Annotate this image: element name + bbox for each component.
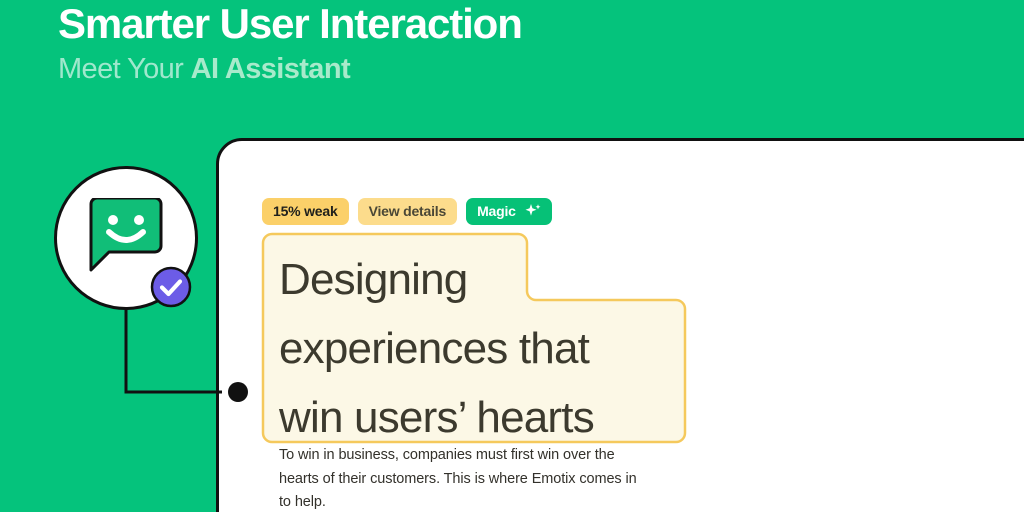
page-title: Smarter User Interaction: [58, 0, 818, 48]
avatar[interactable]: [54, 166, 204, 316]
subtitle-strong: AI Assistant: [191, 53, 350, 85]
badge-label: View details: [369, 204, 447, 218]
card-headline-line: Designing: [279, 245, 679, 314]
card-body-text: To win in business, companies must first…: [279, 444, 651, 512]
check-icon: [150, 266, 192, 308]
status-badge-weak[interactable]: 15% weak: [262, 198, 349, 225]
chat-smiley-icon: [87, 198, 167, 276]
badge-label: Magic: [477, 204, 516, 218]
card-headline-line: experiences that: [279, 314, 679, 383]
subtitle-lead: Meet Your: [58, 53, 191, 85]
view-details-button[interactable]: View details: [358, 198, 458, 225]
header: Smarter User Interaction Meet Your AI As…: [58, 0, 818, 86]
card-headline-line: win users’ hearts: [279, 383, 679, 452]
card-headline: Designing experiences that win users’ he…: [279, 245, 679, 452]
page-subtitle: Meet Your AI Assistant: [58, 52, 818, 86]
slide-canvas: Smarter User Interaction Meet Your AI As…: [0, 0, 1024, 512]
sparkle-icon: [525, 204, 541, 218]
magic-button[interactable]: Magic: [466, 198, 552, 225]
badge-label: 15% weak: [273, 204, 338, 218]
badge-row: 15% weak View details Magic: [262, 198, 552, 225]
